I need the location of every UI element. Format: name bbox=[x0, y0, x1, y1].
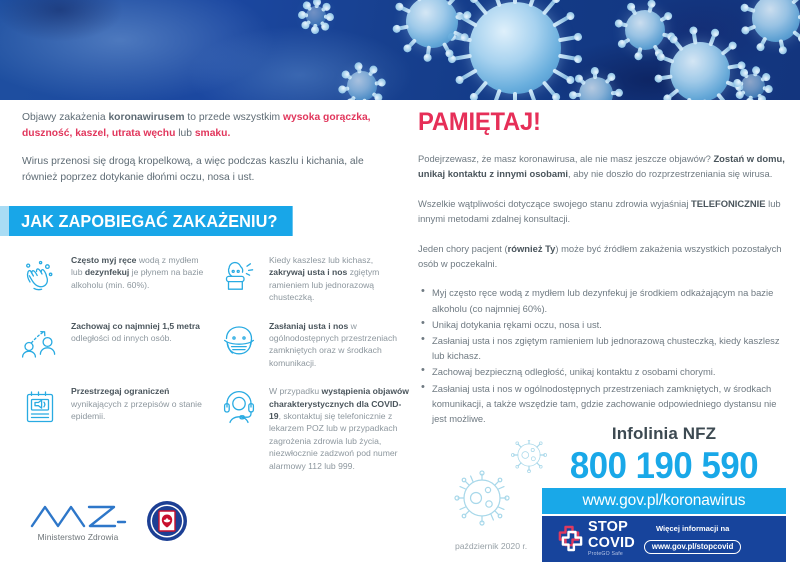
tip1-bold2: dezynfekuj bbox=[85, 267, 129, 277]
remember-paragraph-3: Jeden chory pacjent (również Ty) może by… bbox=[418, 241, 786, 272]
rp3-a: Jeden chory pacjent ( bbox=[418, 243, 508, 254]
ministry-name-label: Ministerstwo Zdrowia bbox=[26, 532, 130, 542]
transmission-paragraph: Wirus przenosi się drogą kropelkową, a w… bbox=[22, 154, 397, 186]
tip-cover-cough-text: Kiedy kaszlesz lub kichasz, zakrywaj ust… bbox=[269, 252, 410, 304]
tip-follow-rules: Przestrzegaj ograniczeń wynikających z p… bbox=[18, 383, 212, 472]
tip6-text2: , skontaktuj się telefonicznie z lekarze… bbox=[269, 411, 398, 471]
tip5-text1: wynikających z przepisów o stanie epidem… bbox=[71, 399, 202, 421]
poster-root: Objawy zakażenia koronawirusem to przede… bbox=[0, 0, 800, 566]
remember-heading: PAMIĘTAJ! bbox=[418, 108, 768, 137]
prevention-section-header: JAK ZAPOBIEGAĆ ZAKAŻENIU? bbox=[0, 206, 314, 236]
tip-wear-mask: Zasłaniaj usta i nos w ogólnodostępnych … bbox=[216, 318, 410, 370]
virus-spike-stem bbox=[513, 92, 517, 100]
polish-coat-of-arms-icon bbox=[146, 500, 188, 542]
washing-hands-icon bbox=[18, 252, 64, 298]
remember-paragraph-1: Podejrzewasz, że masz koronawirusa, ale … bbox=[418, 151, 786, 182]
tip4-bold1: Zasłaniaj usta i nos bbox=[269, 321, 348, 331]
tip-keep-distance: Zachowaj co najmniej 1,5 metra odległośc… bbox=[18, 318, 212, 370]
social-distance-icon bbox=[18, 318, 64, 364]
remember-column: PAMIĘTAJ! Podejrzewasz, że masz koronawi… bbox=[418, 108, 786, 427]
call-center-headset-icon bbox=[216, 383, 262, 429]
hotline-label: Infolinia NFZ bbox=[542, 424, 786, 444]
symptoms-paragraph: Objawy zakażenia koronawirusem to przede… bbox=[22, 110, 397, 142]
list-item: Zasłaniaj usta i nos zgiętym ramieniem l… bbox=[432, 333, 786, 363]
tip2-bold2: zakrywaj usta i nos bbox=[269, 267, 347, 277]
tip5-bold1: Przestrzegaj ograniczeń bbox=[71, 386, 169, 396]
rp2-b: TELEFONICZNIE bbox=[691, 198, 765, 209]
hotline-phone-number: 800 190 590 bbox=[549, 444, 778, 488]
list-item: Zachowaj bezpieczną odległość, unikaj ko… bbox=[432, 364, 786, 379]
stopcovid-stop-label: STOP bbox=[588, 520, 635, 535]
tip6-text1: W przypadku bbox=[269, 386, 322, 396]
prevention-tips-grid: Często myj ręce wodą z mydłem lub dezynf… bbox=[18, 252, 410, 472]
tip-call-doctor-text: W przypadku wystąpienia objawów charakte… bbox=[269, 383, 410, 472]
mz-logo-icon bbox=[26, 501, 130, 531]
virus-hero-banner bbox=[0, 0, 800, 100]
rp1-a: Podejrzewasz, że masz koronawirusa, ale … bbox=[418, 153, 713, 164]
list-item: Unikaj dotykania rękami oczu, nosa i ust… bbox=[432, 317, 786, 332]
virus-particle bbox=[625, 10, 665, 50]
tip3-bold1: Zachowaj co najmniej 1,5 metra bbox=[71, 321, 200, 331]
tip1-bold1: Często myj ręce bbox=[71, 255, 136, 265]
ministry-of-health-logo: Ministerstwo Zdrowia bbox=[26, 501, 130, 542]
stopcovid-more-info-label: Więcej informacji na bbox=[644, 524, 741, 533]
list-item: Zasłaniaj usta i nos w ogólnodostępnych … bbox=[432, 381, 786, 427]
virus-particle bbox=[469, 2, 561, 94]
stopcovid-info: Więcej informacji na www.gov.pl/stopcovi… bbox=[644, 524, 741, 554]
tip-follow-rules-text: Przestrzegaj ograniczeń wynikających z p… bbox=[71, 383, 212, 422]
face-mask-icon bbox=[216, 318, 262, 364]
cough-into-elbow-icon bbox=[216, 252, 262, 298]
remember-bullet-list: Myj często ręce wodą z mydłem lub dezynf… bbox=[418, 285, 786, 426]
symptoms-mid: to przede wszystkim bbox=[185, 112, 283, 123]
section-header-label: JAK ZAPOBIEGAĆ ZAKAŻENIU? bbox=[9, 206, 292, 236]
coronavirus-website-link[interactable]: www.gov.pl/koronawirus bbox=[542, 488, 786, 514]
protego-cross-icon bbox=[554, 524, 584, 554]
tip-call-doctor: W przypadku wystąpienia objawów charakte… bbox=[216, 383, 410, 472]
list-item: Myj często ręce wodą z mydłem lub dezynf… bbox=[432, 285, 786, 315]
stopcovid-website-link[interactable]: www.gov.pl/stopcovid bbox=[644, 540, 741, 554]
tip-cover-cough: Kiedy kaszlesz lub kichasz, zakrywaj ust… bbox=[216, 252, 410, 304]
stopcovid-banner[interactable]: STOP COVID ProteGO Safe Więcej informacj… bbox=[542, 516, 786, 562]
symptoms-keyword: koronawirusem bbox=[108, 112, 184, 123]
section-header-edge bbox=[0, 206, 9, 236]
ministry-logos: Ministerstwo Zdrowia bbox=[26, 500, 188, 542]
tip-keep-distance-text: Zachowaj co najmniej 1,5 metra odległośc… bbox=[71, 318, 212, 345]
symptoms-taste: smaku. bbox=[195, 128, 231, 139]
publication-date: październik 2020 r. bbox=[455, 541, 527, 551]
stopcovid-wordmark: STOP COVID ProteGO Safe bbox=[588, 520, 635, 557]
remember-paragraph-2: Wszelkie wątpliwości dotyczące swojego s… bbox=[418, 196, 786, 227]
rp1-c: , aby nie doszło do rozprzestrzeniania s… bbox=[568, 168, 772, 179]
rp3-b: również Ty bbox=[508, 243, 556, 254]
nfz-hotline-block: Infolinia NFZ 800 190 590 www.gov.pl/kor… bbox=[542, 424, 786, 514]
intro-text-block: Objawy zakażenia koronawirusem to przede… bbox=[22, 110, 397, 198]
virus-spike-stem bbox=[513, 0, 517, 4]
stopcovid-logo: STOP COVID ProteGO Safe bbox=[554, 520, 635, 557]
stopcovid-subtitle: ProteGO Safe bbox=[588, 552, 635, 557]
stopcovid-covid-label: COVID bbox=[588, 536, 635, 551]
tip-wear-mask-text: Zasłaniaj usta i nos w ogólnodostępnych … bbox=[269, 318, 410, 370]
symptoms-conj: lub bbox=[175, 128, 194, 139]
tip2-text1: Kiedy kaszlesz lub kichasz, bbox=[269, 255, 373, 265]
rp2-a: Wszelkie wątpliwości dotyczące swojego s… bbox=[418, 198, 691, 209]
clipboard-rules-icon bbox=[18, 383, 64, 429]
tip3-text1: odległości od innych osób. bbox=[71, 333, 172, 343]
symptoms-lead: Objawy zakażenia bbox=[22, 112, 108, 123]
tip-wash-hands-text: Często myj ręce wodą z mydłem lub dezynf… bbox=[71, 252, 212, 291]
tip-wash-hands: Często myj ręce wodą z mydłem lub dezynf… bbox=[18, 252, 212, 304]
